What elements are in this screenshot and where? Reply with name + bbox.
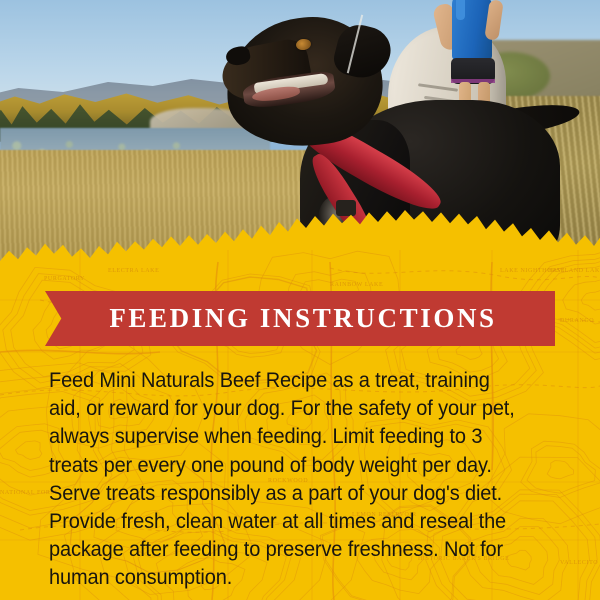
feeding-instructions-text: Feed Mini Naturals Beef Recipe as a trea… — [49, 366, 521, 592]
feeding-instructions-card: ELECTRA LAKERAINBOW LAKENATIONAL FORESTR… — [0, 0, 600, 600]
banner-title: FEEDING INSTRUCTIONS — [45, 291, 555, 346]
map-place-label: DURANGO — [560, 318, 594, 324]
map-place-label: VALLECITO — [560, 560, 598, 566]
feeding-instructions-banner: FEEDING INSTRUCTIONS — [45, 291, 555, 346]
map-place-label: RAINBOW LAKE — [330, 282, 383, 288]
collar-buckle — [336, 200, 356, 216]
map-place-label: ELECTRA LAKE — [108, 268, 159, 274]
tank-top-strap — [456, 0, 465, 20]
map-place-label: HAVILAND LAKE — [548, 268, 600, 274]
map-place-label: PURGATORY — [44, 276, 85, 282]
